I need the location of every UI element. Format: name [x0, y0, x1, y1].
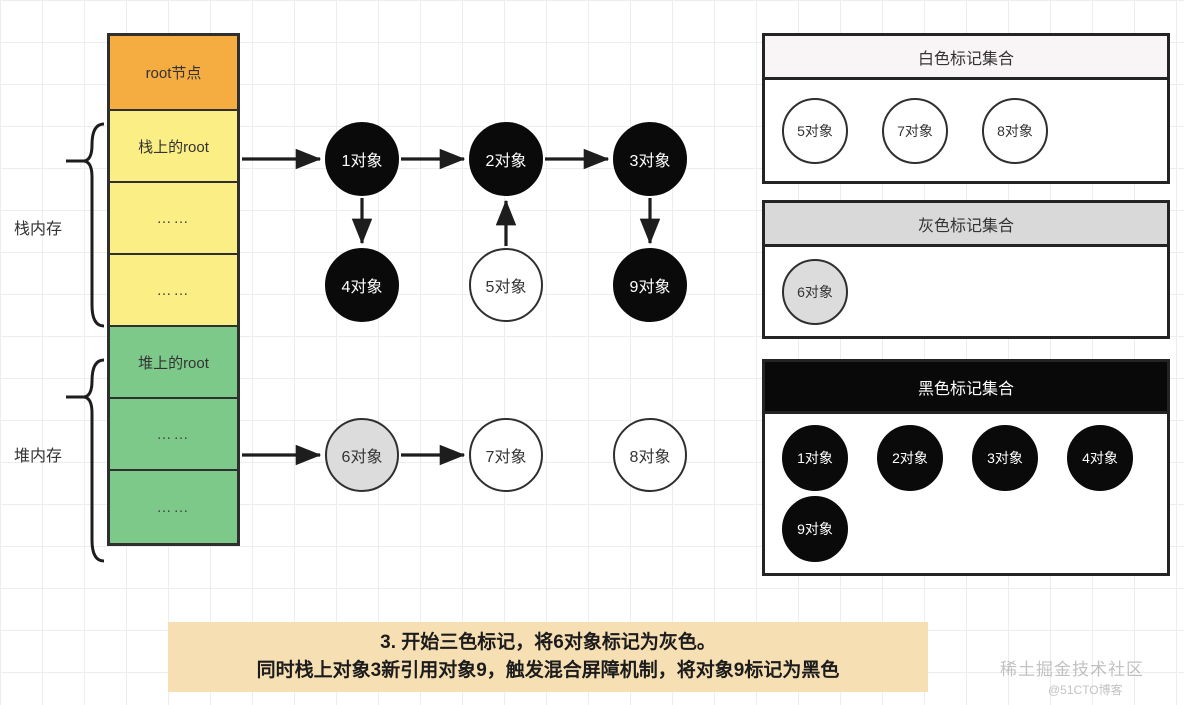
- memory-row-label: ……: [157, 499, 191, 516]
- graph-node-obj6[interactable]: 6对象: [325, 418, 399, 492]
- panel-title-gray-set: 灰色标记集合: [765, 203, 1167, 247]
- chip-label: 2对象: [892, 448, 928, 468]
- chip-white-obj5[interactable]: 5对象: [782, 98, 848, 164]
- graph-node-obj1[interactable]: 1对象: [325, 122, 399, 196]
- memory-row-label: 堆上的root: [138, 352, 209, 373]
- stack-memory-label: 栈内存: [14, 215, 62, 239]
- graph-node-label: 7对象: [486, 443, 527, 467]
- chip-label: 1对象: [797, 448, 833, 468]
- graph-node-obj7[interactable]: 7对象: [469, 418, 543, 492]
- chip-black-obj4[interactable]: 4对象: [1067, 425, 1133, 491]
- memory-row-stack-dots-2: ……: [110, 255, 237, 327]
- graph-node-label: 1对象: [342, 147, 383, 171]
- graph-node-obj2[interactable]: 2对象: [469, 122, 543, 196]
- memory-row-label: 栈上的root: [138, 136, 209, 157]
- graph-node-obj8[interactable]: 8对象: [613, 418, 687, 492]
- graph-node-label: 8对象: [630, 443, 671, 467]
- chip-black-obj9[interactable]: 9对象: [782, 496, 848, 562]
- panel-white-set: 白色标记集合 5对象 7对象 8对象: [762, 33, 1170, 184]
- chip-gray-obj6[interactable]: 6对象: [782, 259, 848, 325]
- graph-node-obj5[interactable]: 5对象: [469, 248, 543, 322]
- memory-row-heap-dots-2: ……: [110, 471, 237, 543]
- memory-row-stack-root: 栈上的root: [110, 111, 237, 183]
- memory-row-label: ……: [157, 210, 191, 227]
- chip-label: 7对象: [897, 121, 933, 141]
- caption-box: 3. 开始三色标记，将6对象标记为灰色。 同时栈上对象3新引用对象9，触发混合屏…: [168, 622, 928, 692]
- caption-line-2: 同时栈上对象3新引用对象9，触发混合屏障机制，将对象9标记为黑色: [257, 657, 840, 685]
- chip-label: 9对象: [797, 519, 833, 539]
- watermark-site: 稀土掘金技术社区: [1000, 655, 1144, 680]
- chip-label: 4对象: [1082, 448, 1118, 468]
- panel-body-black-set: 1对象 2对象 3对象 4对象 9对象: [765, 414, 1167, 573]
- chip-black-obj1[interactable]: 1对象: [782, 425, 848, 491]
- graph-node-label: 4对象: [342, 273, 383, 297]
- memory-row-label: ……: [157, 426, 191, 443]
- memory-row-heap-dots-1: ……: [110, 399, 237, 471]
- diagram-canvas: root节点 栈上的root …… …… 堆上的root …… …… 栈内存 堆…: [0, 0, 1184, 705]
- chip-label: 3对象: [987, 448, 1023, 468]
- graph-node-label: 2对象: [486, 147, 527, 171]
- graph-node-label: 3对象: [630, 147, 671, 171]
- graph-node-obj3[interactable]: 3对象: [613, 122, 687, 196]
- chip-label: 8对象: [997, 121, 1033, 141]
- watermark-author: @51CTO博客: [1048, 681, 1123, 698]
- heap-memory-label: 堆内存: [14, 442, 62, 466]
- graph-node-obj9[interactable]: 9对象: [613, 248, 687, 322]
- panel-title-black-set: 黑色标记集合: [765, 362, 1167, 414]
- stack-memory-brace: [84, 124, 104, 326]
- graph-node-obj4[interactable]: 4对象: [325, 248, 399, 322]
- chip-white-obj8[interactable]: 8对象: [982, 98, 1048, 164]
- panel-body-gray-set: 6对象: [765, 247, 1167, 337]
- heap-memory-brace: [84, 360, 104, 561]
- panel-black-set: 黑色标记集合 1对象 2对象 3对象 4对象 9对象: [762, 359, 1170, 576]
- chip-white-obj7[interactable]: 7对象: [882, 98, 948, 164]
- panel-body-white-set: 5对象 7对象 8对象: [765, 80, 1167, 182]
- memory-column: root节点 栈上的root …… …… 堆上的root …… ……: [107, 33, 240, 546]
- memory-row-root: root节点: [110, 36, 237, 111]
- graph-node-label: 5对象: [486, 273, 527, 297]
- chip-black-obj2[interactable]: 2对象: [877, 425, 943, 491]
- memory-row-label: ……: [157, 282, 191, 299]
- chip-label: 6对象: [797, 282, 833, 302]
- memory-row-heap-root: 堆上的root: [110, 327, 237, 399]
- memory-row-stack-dots-1: ……: [110, 183, 237, 255]
- panel-gray-set: 灰色标记集合 6对象: [762, 200, 1170, 339]
- graph-node-label: 9对象: [630, 273, 671, 297]
- memory-row-label: root节点: [146, 62, 202, 83]
- panel-title-white-set: 白色标记集合: [765, 36, 1167, 80]
- caption-line-1: 3. 开始三色标记，将6对象标记为灰色。: [380, 629, 716, 657]
- chip-label: 5对象: [797, 121, 833, 141]
- graph-node-label: 6对象: [342, 443, 383, 467]
- chip-black-obj3[interactable]: 3对象: [972, 425, 1038, 491]
